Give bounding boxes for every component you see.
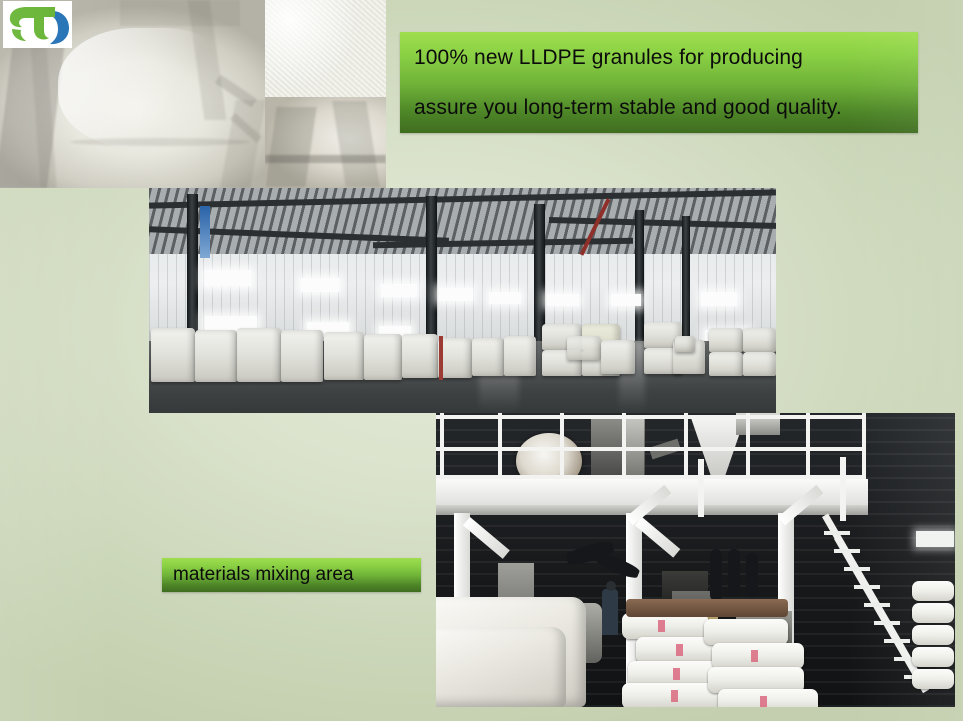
worker <box>602 589 618 635</box>
railing-post <box>806 413 810 481</box>
stacked-sack <box>712 643 804 669</box>
fire-pipe <box>439 336 443 380</box>
stacked-sack <box>912 647 954 667</box>
warehouse-window <box>381 284 417 297</box>
bulk-bag <box>743 352 776 376</box>
bulk-bag <box>601 340 635 374</box>
background-window <box>916 531 954 547</box>
stacked-sack <box>704 619 788 645</box>
bulk-bag <box>743 328 776 352</box>
granule-texture-closeup <box>265 0 386 97</box>
bulk-bag <box>281 330 323 382</box>
mixing-area-label: materials mixing area <box>162 558 421 592</box>
bulk-bag <box>324 332 364 380</box>
bulk-bag <box>472 338 504 376</box>
bag-stack-closeup <box>265 97 386 188</box>
stacked-sack <box>912 669 954 689</box>
stacked-sack <box>912 603 954 623</box>
bulk-bag <box>237 328 281 382</box>
bulk-bag <box>402 334 438 378</box>
headline-line-2: assure you long-term stable and good qua… <box>414 83 918 133</box>
bulk-bag <box>709 352 743 376</box>
warehouse-window <box>547 294 579 306</box>
mixing-area-label-text: materials mixing area <box>173 558 421 592</box>
bulk-bag <box>151 328 195 382</box>
headline-line-1: 100% new LLDPE granules for producing <box>414 33 918 83</box>
bagged-material-pile <box>436 627 566 707</box>
company-logo-icon <box>3 1 72 48</box>
stacked-sack <box>718 689 818 707</box>
bulk-bag <box>364 334 402 380</box>
warehouse-window <box>701 292 737 306</box>
warehouse-window <box>205 270 251 286</box>
marketing-image-canvas: 100% new LLDPE granules for producing as… <box>0 0 963 721</box>
worker-head <box>606 581 616 591</box>
warehouse-photo <box>149 188 776 413</box>
headline-banner: 100% new LLDPE granules for producing as… <box>400 32 918 133</box>
mixing-area-photo <box>436 413 955 707</box>
pallet-board <box>626 599 788 617</box>
granule-collage-photo <box>0 0 386 188</box>
railing-post <box>684 413 688 481</box>
bulk-bag <box>675 336 695 352</box>
stacked-sack <box>912 625 954 645</box>
company-logo <box>3 1 72 48</box>
hose <box>746 553 758 597</box>
bulk-bag <box>195 330 237 382</box>
railing-post <box>440 413 444 481</box>
hose <box>728 549 740 597</box>
stacked-sack <box>912 581 954 601</box>
warehouse-window <box>301 278 339 292</box>
warehouse-hanging-banner <box>200 206 210 258</box>
hose <box>710 549 722 601</box>
bulk-bag <box>567 336 601 360</box>
warehouse-window <box>439 288 473 301</box>
railing-post <box>862 413 866 481</box>
warehouse-window <box>611 294 641 306</box>
railing-post <box>560 413 564 481</box>
bulk-bag <box>438 338 472 378</box>
bulk-bag <box>504 336 536 376</box>
railing-post <box>746 413 750 481</box>
railing-post <box>622 413 626 481</box>
bulk-bag <box>709 328 743 352</box>
railing-post <box>498 413 502 481</box>
warehouse-window <box>489 292 521 304</box>
